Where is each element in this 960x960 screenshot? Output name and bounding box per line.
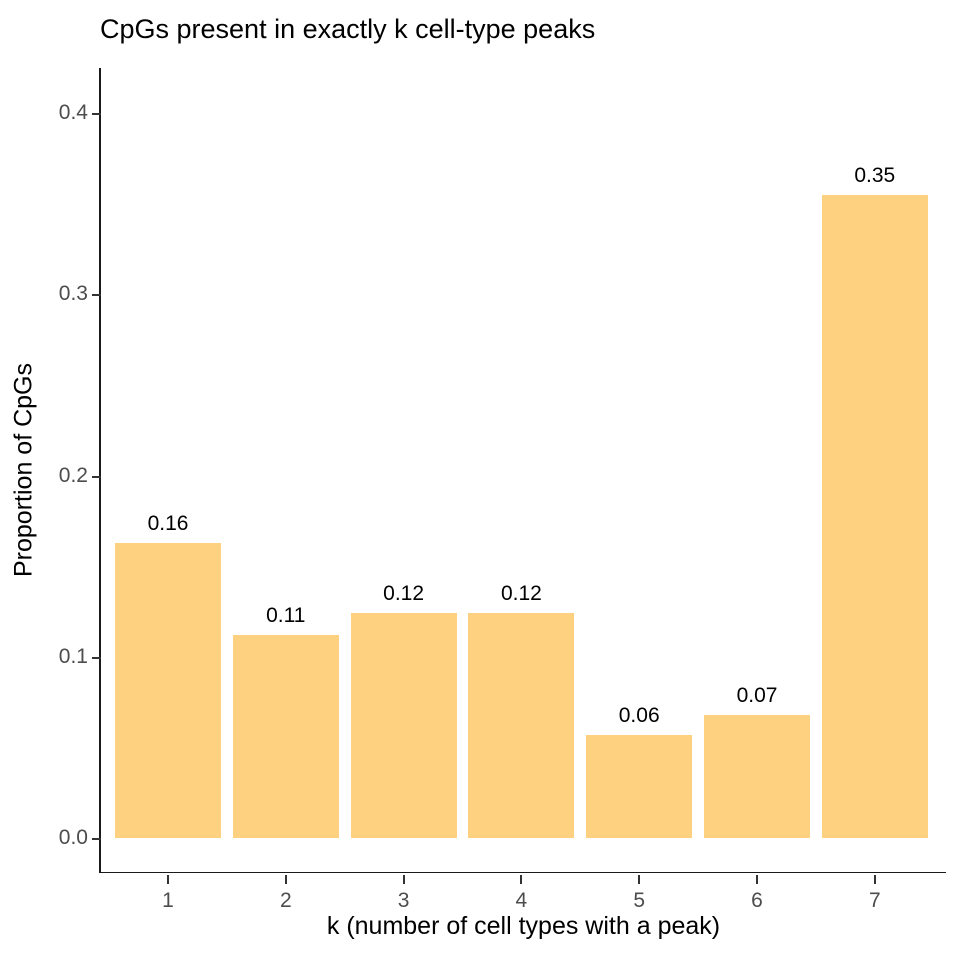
y-tick-label: 0.0 bbox=[59, 826, 88, 850]
bar-value-label: 0.07 bbox=[737, 684, 778, 708]
y-tick-label: 0.1 bbox=[59, 645, 88, 669]
bar[interactable] bbox=[115, 543, 221, 838]
y-axis-title-label: Proportion of CpGs bbox=[10, 363, 39, 577]
x-tick-label: 1 bbox=[162, 889, 174, 913]
bar-value-label: 0.16 bbox=[148, 512, 189, 536]
x-tick-mark bbox=[403, 875, 405, 884]
x-tick-label: 2 bbox=[280, 889, 292, 913]
y-tick-mark bbox=[92, 294, 101, 296]
y-tick-label: 0.3 bbox=[59, 282, 88, 306]
x-tick-mark bbox=[285, 875, 287, 884]
bar-value-label: 0.12 bbox=[383, 582, 424, 606]
plot-panel: 0.00.10.20.30.4 1234567 0.160.110.120.12… bbox=[101, 68, 946, 872]
bar[interactable] bbox=[586, 735, 692, 838]
x-tick-label: 5 bbox=[633, 889, 645, 913]
bar-value-label: 0.12 bbox=[501, 582, 542, 606]
y-tick-mark bbox=[92, 838, 101, 840]
x-tick-label: 7 bbox=[869, 889, 881, 913]
bar-value-label: 0.06 bbox=[619, 704, 660, 728]
y-tick-label: 0.4 bbox=[59, 101, 88, 125]
bar[interactable] bbox=[704, 715, 810, 838]
x-tick-label: 6 bbox=[751, 889, 763, 913]
chart-canvas: CpGs present in exactly k cell-type peak… bbox=[0, 0, 960, 960]
bar[interactable] bbox=[233, 635, 339, 838]
y-tick-mark bbox=[92, 657, 101, 659]
bar-value-label: 0.11 bbox=[266, 604, 305, 628]
x-tick-label: 3 bbox=[398, 889, 410, 913]
x-tick-mark bbox=[874, 875, 876, 884]
bar[interactable] bbox=[822, 195, 928, 838]
y-tick-label: 0.2 bbox=[59, 464, 88, 488]
y-tick-mark bbox=[92, 476, 101, 478]
y-tick-mark bbox=[92, 113, 101, 115]
x-tick-mark bbox=[520, 875, 522, 884]
x-tick-label: 4 bbox=[516, 889, 528, 913]
x-tick-mark bbox=[638, 875, 640, 884]
x-tick-mark bbox=[167, 875, 169, 884]
bar[interactable] bbox=[468, 613, 574, 838]
x-tick-mark bbox=[756, 875, 758, 884]
bar-value-label: 0.35 bbox=[854, 164, 895, 188]
y-axis-title: Proportion of CpGs bbox=[4, 68, 44, 872]
page-title: CpGs present in exactly k cell-type peak… bbox=[100, 14, 595, 45]
bar[interactable] bbox=[351, 613, 457, 838]
x-axis-title: k (number of cell types with a peak) bbox=[101, 912, 946, 941]
